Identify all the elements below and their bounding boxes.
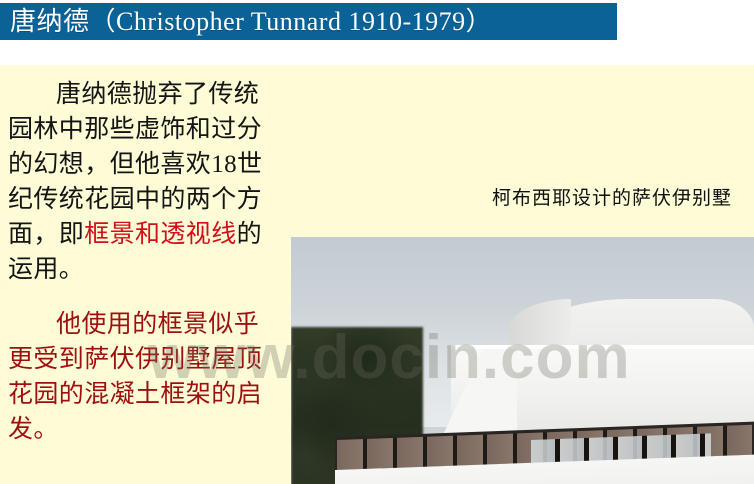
villa-savoye-photo	[291, 237, 754, 484]
roof-wall-diagonal	[421, 345, 517, 437]
slide-canvas: 唐纳德（Christopher Tunnard 1910-1979） 唐纳德抛弃…	[0, 0, 754, 484]
paragraph-1-highlight: 框景和透视线	[84, 221, 236, 248]
content-panel: 唐纳德抛弃了传统园林中那些虚饰和过分的幻想，但他喜欢18世纪传统花园中的两个方面…	[0, 65, 754, 484]
page-title: 唐纳德（Christopher Tunnard 1910-1979）	[0, 7, 492, 37]
text-column: 唐纳德抛弃了传统园林中那些虚饰和过分的幻想，但他喜欢18世纪传统花园中的两个方面…	[8, 77, 280, 447]
paragraph-2: 他使用的框景似乎更受到萨伏伊别墅屋顶花园的混凝土框架的启发。	[8, 307, 280, 447]
paragraph-1: 唐纳德抛弃了传统园林中那些虚饰和过分的幻想，但他喜欢18世纪传统花园中的两个方面…	[8, 77, 280, 287]
photo-caption: 柯布西耶设计的萨伏伊别墅	[492, 187, 732, 211]
slide-title-bar: 唐纳德（Christopher Tunnard 1910-1979）	[0, 3, 617, 40]
parapet-edge	[451, 345, 754, 349]
